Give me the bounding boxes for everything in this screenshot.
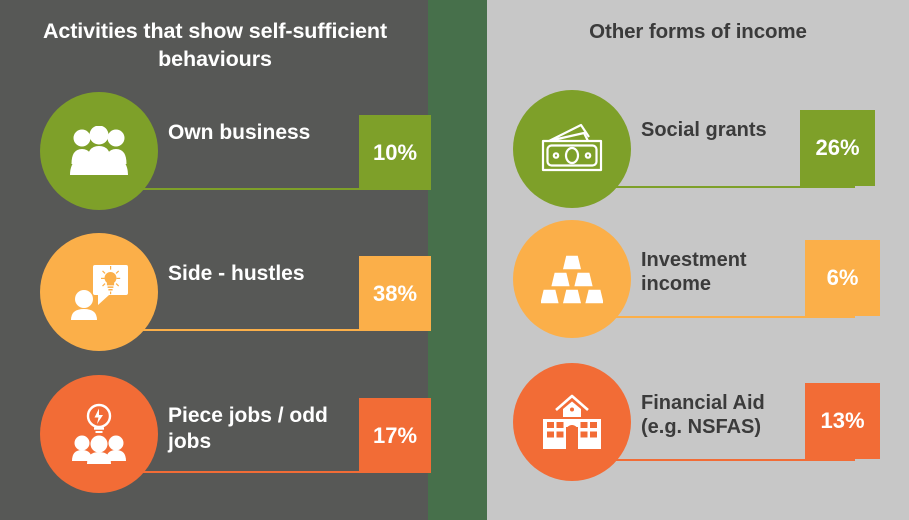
item-label: Financial Aid (e.g. NSFAS) — [641, 391, 801, 440]
item-label: Social grants — [641, 118, 801, 142]
value-badge: 26% — [800, 110, 875, 186]
list-item: Own business 10% — [40, 92, 420, 222]
infographic-slide: Activities that show self-sufficient beh… — [0, 0, 909, 520]
panel-divider-stripe — [428, 0, 487, 520]
school-building-icon — [539, 394, 605, 450]
value-text: 26% — [815, 135, 859, 161]
item-label: Piece jobs / odd jobs — [168, 403, 353, 454]
list-item: Financial Aid (e.g. NSFAS) 13% — [513, 363, 893, 493]
value-badge: 17% — [359, 398, 431, 473]
gold-bars-icon — [541, 252, 603, 306]
row-baseline — [613, 459, 855, 461]
right-panel-title: Other forms of income — [500, 19, 896, 46]
value-text: 38% — [373, 281, 417, 307]
list-item: Piece jobs / odd jobs 17% — [40, 375, 420, 505]
icon-badge — [513, 220, 631, 338]
value-text: 10% — [373, 140, 417, 166]
row-baseline — [613, 316, 855, 318]
person-idea-bubble-icon — [68, 263, 130, 321]
icon-badge — [40, 92, 158, 210]
value-text: 13% — [820, 408, 864, 434]
value-badge: 10% — [359, 115, 431, 190]
list-item: Side - hustles 38% — [40, 233, 420, 363]
item-label: Own business — [168, 120, 353, 146]
row-baseline — [613, 186, 855, 188]
group-lightbulb-icon — [68, 403, 130, 465]
value-badge: 13% — [805, 383, 880, 459]
value-text: 6% — [827, 265, 859, 291]
list-item: Investment income 6% — [513, 220, 893, 350]
left-panel-title: Activities that show self-sufficient beh… — [20, 18, 410, 74]
icon-badge — [40, 375, 158, 493]
banknotes-icon — [537, 121, 607, 177]
icon-badge — [513, 363, 631, 481]
icon-badge — [40, 233, 158, 351]
value-text: 17% — [373, 423, 417, 449]
value-badge: 38% — [359, 256, 431, 331]
item-label: Investment income — [641, 248, 801, 297]
icon-badge — [513, 90, 631, 208]
value-badge: 6% — [805, 240, 880, 316]
item-label: Side - hustles — [168, 261, 353, 287]
list-item: Social grants 26% — [513, 90, 893, 220]
group-of-people-icon — [68, 126, 130, 176]
